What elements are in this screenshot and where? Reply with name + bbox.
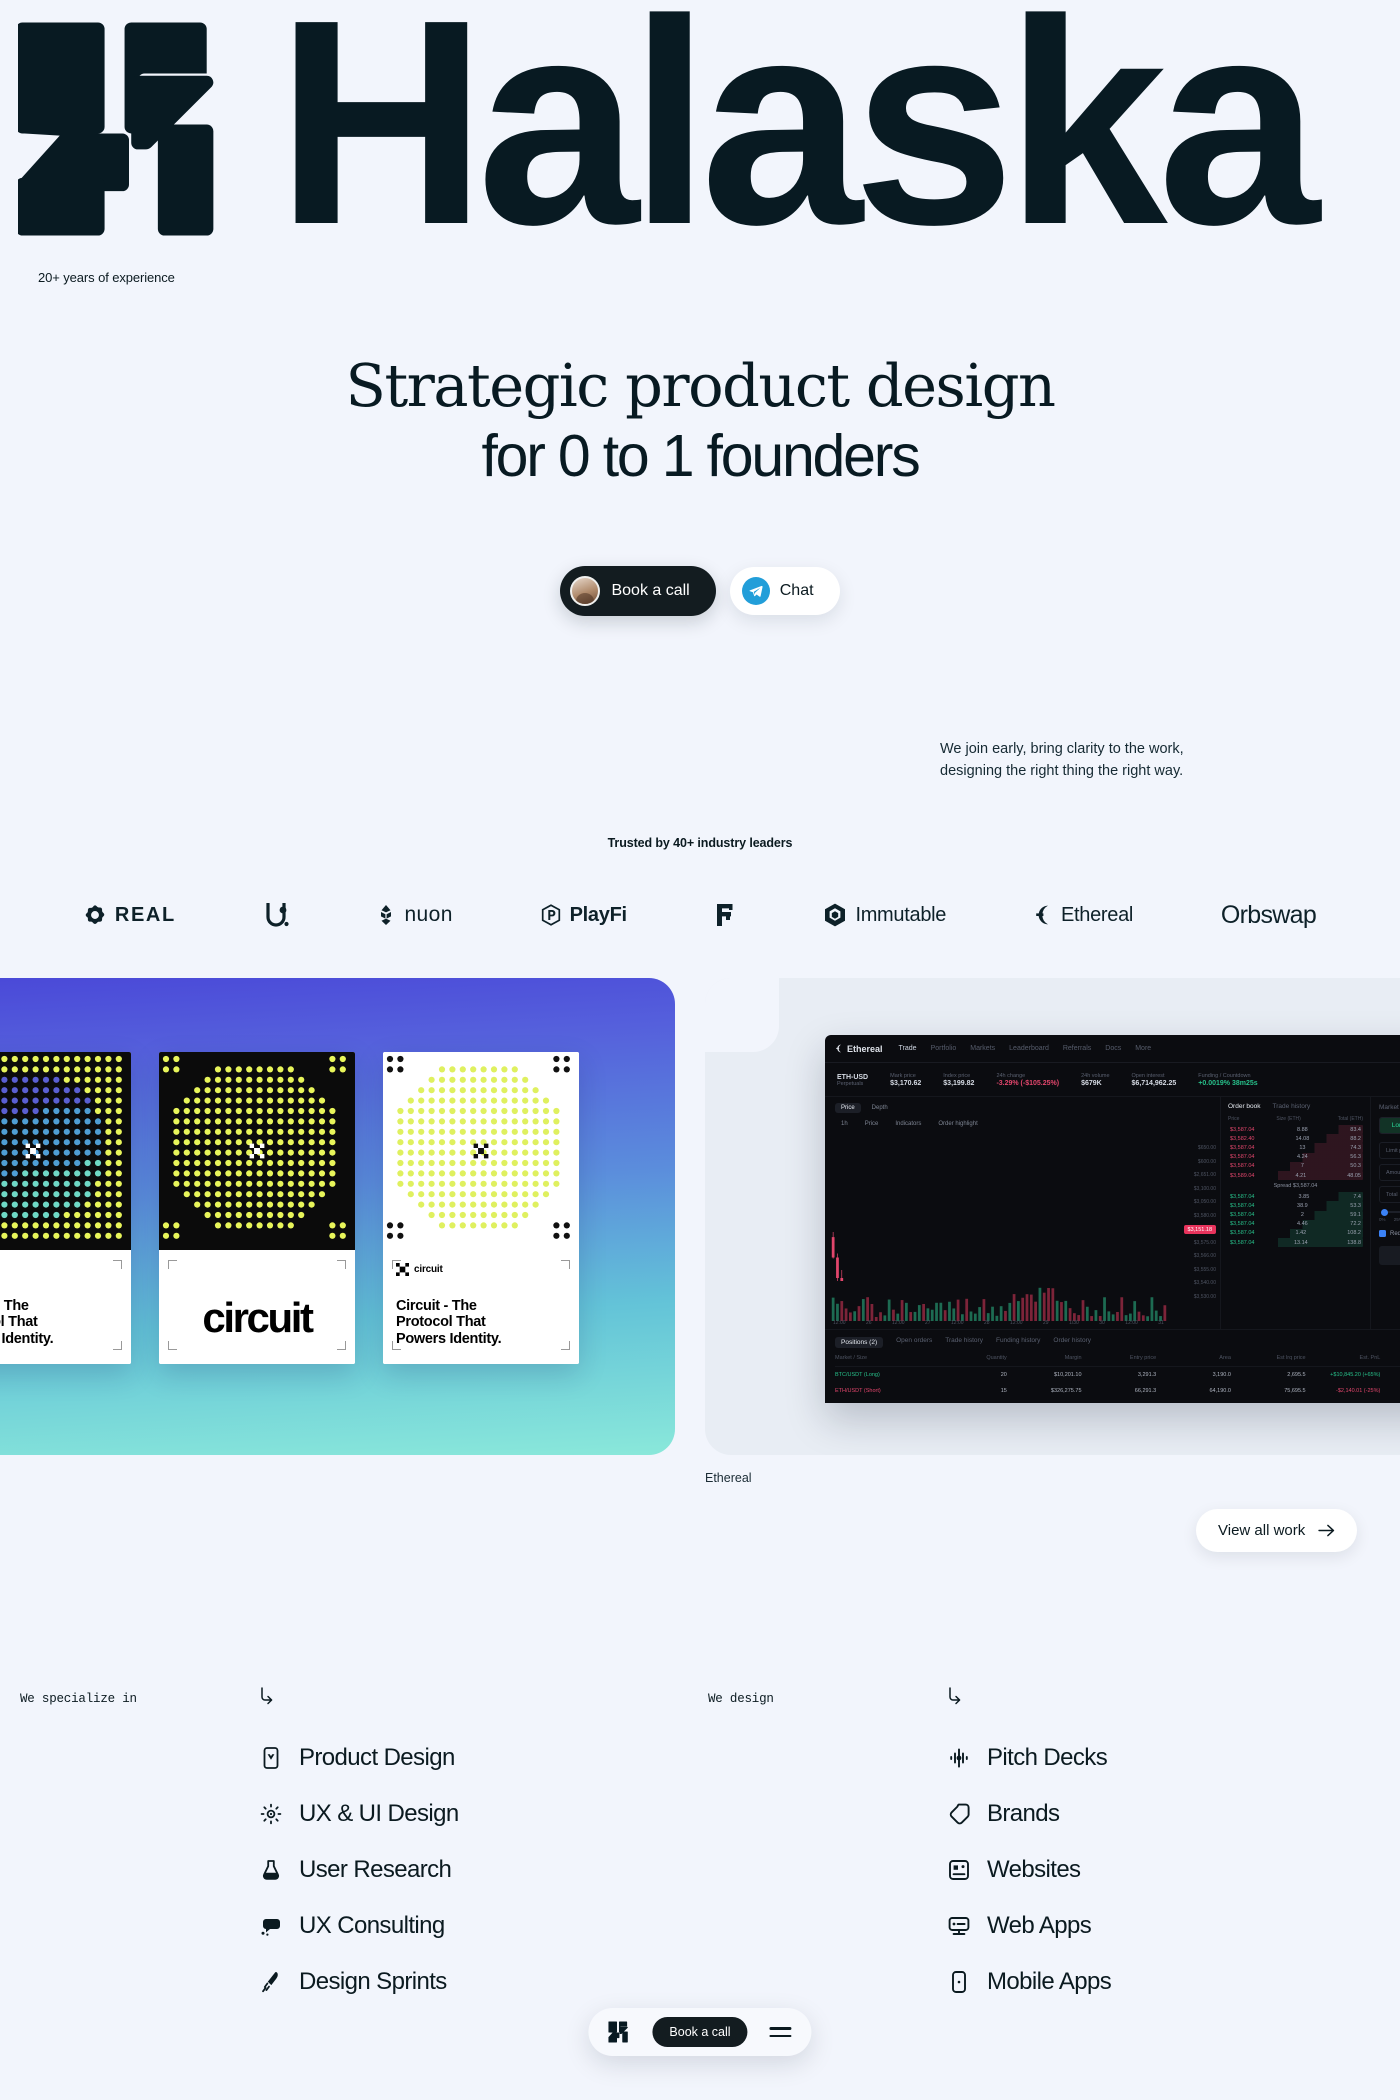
ob-size: 4.21 (1295, 1173, 1306, 1179)
order-book-row[interactable]: $3,587.0438.953.3 (1228, 1201, 1363, 1210)
price-tick: $3,050.00 (1194, 1199, 1216, 1205)
ob-size: 13.14 (1294, 1240, 1308, 1246)
col-area: Area (1156, 1355, 1231, 1361)
tab-trade-history-2[interactable]: Trade history (945, 1337, 983, 1348)
logo-real[interactable]: REAL (84, 904, 176, 927)
col-liq: Est lrq price (1231, 1355, 1306, 1361)
reduce-only-checkbox[interactable]: Reduce only (1379, 1230, 1400, 1237)
tab-trade-history[interactable]: Trade history (1273, 1103, 1311, 1110)
ob-total: 50.3 (1350, 1163, 1361, 1169)
service-label: UX Consulting (299, 1912, 445, 1940)
logo-ethereal-label: Ethereal (1061, 904, 1133, 927)
field-label: Total (1386, 1192, 1398, 1198)
nav-markets[interactable]: Markets (970, 1045, 995, 1052)
tool-interval[interactable]: 1h (835, 1119, 854, 1129)
service-item-websites[interactable]: Websites (946, 1842, 1111, 1898)
ob-price: $3,587.04 (1230, 1240, 1254, 1246)
chart-tabs: Price Depth (829, 1103, 1216, 1113)
order-book-bids: $3,587.043.857.4$3,587.0438.953.3$3,587.… (1228, 1192, 1363, 1247)
field-label: Limit price (1386, 1148, 1400, 1154)
pos-cell: -$2,140.01 (-25%) (1306, 1388, 1381, 1394)
ob-size: 2 (1301, 1212, 1304, 1218)
stat-value: +0.0019% 38m25s (1198, 1080, 1257, 1087)
ob-price: $3,587.04 (1230, 1163, 1254, 1169)
logo-immutable-label: Immutable (855, 904, 946, 927)
ob-total: 53.3 (1350, 1203, 1361, 1209)
stat-label: Mark price (890, 1073, 921, 1079)
dashboard-main: Price Depth 1h Price Indicators Order hi… (825, 1097, 1400, 1329)
table-row[interactable]: ETH/USDT (Short)15$326,275.7566,291.364,… (835, 1383, 1400, 1399)
ob-price: $3,587.04 (1230, 1230, 1254, 1236)
time-tick: 30 (1099, 1320, 1105, 1326)
nav-docs[interactable]: Docs (1105, 1045, 1121, 1052)
ob-size: 14.08 (1295, 1136, 1309, 1142)
poster-3-desc-l1: Circuit - The (396, 1298, 501, 1315)
pitch-decks-icon (946, 1746, 971, 1771)
pos-cell: 64,190.0 (1156, 1388, 1231, 1394)
order-book-row[interactable]: $3,587.044.2456.3 (1228, 1153, 1363, 1162)
client-logo-row: REAL nuon PlayFi (0, 880, 1400, 950)
web-apps-icon (946, 1914, 971, 1939)
time-tick: 27 (925, 1320, 931, 1326)
arrow-right-icon (1318, 1524, 1335, 1537)
work-card-caption: Ethereal (705, 1471, 752, 1485)
dashboard-nav: Trade Portfolio Markets Leaderboard Refe… (899, 1045, 1152, 1052)
logo-f[interactable] (715, 902, 737, 928)
service-item-user-research[interactable]: User Research (258, 1842, 459, 1898)
poster-3: circuit Circuit - The Protocol That Powe… (383, 1052, 579, 1364)
chart-tab-price[interactable]: Price (835, 1103, 861, 1113)
service-item-brands[interactable]: Brands (946, 1786, 1111, 1842)
nav-trade[interactable]: Trade (899, 1045, 917, 1052)
poster-3-desc-l2: Protocol That (396, 1314, 501, 1331)
ob-total: 108.2 (1347, 1230, 1361, 1236)
tool-indicators[interactable]: Indicators (889, 1119, 927, 1129)
service-item-web-apps[interactable]: Web Apps (946, 1898, 1111, 1954)
mobile-apps-icon (946, 1970, 971, 1995)
order-book-row[interactable]: $3,587.048.8883.4 (1228, 1125, 1363, 1134)
order-book-row[interactable]: $3,587.041374.3 (1228, 1143, 1363, 1152)
ethereal-dashboard: Ethereal Trade Portfolio Markets Leaderb… (825, 1035, 1400, 1403)
service-item-ux-ui-design[interactable]: UX & UI Design (258, 1786, 459, 1842)
dot-grid-gradient (0, 1052, 131, 1250)
stat-label: Open interest (1132, 1073, 1177, 1079)
ob-price: $3,587.04 (1230, 1221, 1254, 1227)
col-total: Total (ETH) (1338, 1116, 1363, 1122)
subcopy-line-1: We join early, bring clarity to the work… (940, 738, 1360, 760)
price-tick: $3,575.00 (1194, 1240, 1216, 1246)
logo-ethereal[interactable]: Ethereal (1034, 904, 1133, 927)
nav-referrals[interactable]: Referrals (1063, 1045, 1091, 1052)
order-book-row[interactable]: $3,587.04750.3 (1228, 1162, 1363, 1171)
u-logo-icon (264, 900, 290, 930)
chart-tab-depth[interactable]: Depth (866, 1103, 894, 1113)
col-price: Price (1228, 1116, 1239, 1122)
service-label: User Research (299, 1856, 451, 1884)
price-tick: $2,651.00 (1194, 1172, 1216, 1178)
pos-cell: $10,201.10 (1007, 1372, 1082, 1378)
work-card-circuit[interactable]: circuit Circuit - The Protocol That Powe… (0, 978, 675, 1455)
ob-total: 88.2 (1350, 1136, 1361, 1142)
f-logo-icon (715, 902, 737, 928)
pos-cell: 3,291.3 (1082, 1372, 1157, 1378)
ob-price: $3,587.04 (1230, 1145, 1254, 1151)
design-sprints-icon (258, 1970, 283, 1995)
avatar (570, 576, 600, 606)
stat-value: $3,170.62 (890, 1080, 921, 1087)
price-tick: $3,540.00 (1194, 1280, 1216, 1286)
card-notch (705, 978, 779, 1052)
poster-2-body: circuit (159, 1250, 355, 1364)
stat-value: $679K (1081, 1080, 1109, 1087)
poster-3-brand: circuit (414, 1264, 443, 1275)
time-tick: 28 (984, 1320, 990, 1326)
poster-3-desc: Circuit - The Protocol That Powers Ident… (396, 1298, 501, 1348)
price-tick: $3,580.00 (1194, 1213, 1216, 1219)
time-tick: 31 (1158, 1320, 1164, 1326)
candlestick-chart (831, 1153, 1167, 1281)
stat-24h-volume: 24h volume $679K (1081, 1073, 1109, 1087)
book-a-call-button[interactable]: Book a call (560, 566, 715, 616)
floating-bottom-nav: Book a call (588, 2008, 811, 2056)
service-label: Brands (987, 1800, 1059, 1828)
order-book-row[interactable]: $3,587.04259.1 (1228, 1211, 1363, 1220)
work-card-ethereal[interactable]: Ethereal Trade Portfolio Markets Leaderb… (705, 978, 1400, 1455)
positions-header-row: Market / Size Quantity Margin Entry pric… (835, 1355, 1400, 1367)
pos-cell: 2,695.5 (1231, 1372, 1306, 1378)
poster-2-art (159, 1052, 355, 1250)
current-price-tag: $3,151.18 (1184, 1225, 1216, 1234)
poster-2-wordmark: circuit (159, 1294, 355, 1342)
order-book-row[interactable]: $3,587.044.4672.2 (1228, 1220, 1363, 1229)
book-a-call-label: Book a call (611, 582, 689, 600)
ux-ui-design-icon (258, 1802, 283, 1827)
side-toggle: Long Short (1379, 1117, 1400, 1134)
poster-1-desc-l2: Protocol That (0, 1314, 53, 1331)
slider-tick: 0% (1379, 1217, 1386, 1222)
ob-total: 138.8 (1347, 1240, 1361, 1246)
time-tick: 29 (1043, 1320, 1049, 1326)
work-showcase: circuit Circuit - The Protocol That Powe… (0, 978, 1400, 1458)
headline-line-1: Strategic product design (0, 352, 1400, 420)
poster-1-desc: Circuit - The Protocol That Powers Ident… (0, 1298, 53, 1348)
pos-cell: $2,591.09 (1380, 1372, 1400, 1378)
service-item-design-sprints[interactable]: Design Sprints (258, 1954, 459, 2010)
dot-grid-yellow (159, 1052, 355, 1250)
telegram-icon (742, 577, 770, 605)
logo-nuon-label: nuon (404, 903, 452, 927)
ob-total: 7.4 (1353, 1194, 1361, 1200)
service-label: Pitch Decks (987, 1744, 1107, 1772)
real-logo-icon (84, 904, 106, 926)
trusted-label: Trusted by 40+ industry leaders (0, 836, 1400, 850)
chat-button[interactable]: Chat (730, 567, 840, 615)
logo-orbswap-label: Orbswap (1221, 901, 1316, 930)
pos-cell: $326,275.75 (1007, 1388, 1082, 1394)
product-design-icon (258, 1746, 283, 1771)
nav-leaderboard[interactable]: Leaderboard (1009, 1045, 1049, 1052)
price-chart-panel: Price Depth 1h Price Indicators Order hi… (825, 1097, 1221, 1329)
field-limit-price[interactable]: Limit price 0.00 (1379, 1142, 1400, 1159)
poster-3-body: circuit Circuit - The Protocol That Powe… (383, 1250, 579, 1364)
dashboard-brand: Ethereal (835, 1044, 883, 1054)
logo-u[interactable] (264, 900, 290, 930)
tool-price[interactable]: Price (859, 1119, 885, 1129)
positions-tabs: Positions (2) Open orders Trade history … (835, 1337, 1400, 1348)
logo-orbswap[interactable]: Orbswap (1221, 901, 1316, 930)
stat-open-interest: Open interest $6,714,962.25 (1132, 1073, 1177, 1087)
ob-total: 72.2 (1350, 1221, 1361, 1227)
time-tick: 12:00 (892, 1320, 905, 1326)
playfi-logo-icon (541, 904, 561, 926)
websites-icon (946, 1858, 971, 1883)
field-label: Amount (1386, 1170, 1400, 1176)
dashboard-topbar: Ethereal Trade Portfolio Markets Leaderb… (825, 1035, 1400, 1063)
chart-toolbar: 1h Price Indicators Order highlight (829, 1119, 1216, 1129)
pos-cell: 3,190.0 (1156, 1372, 1231, 1378)
pos-cell: 15 (932, 1388, 1007, 1394)
dashboard-brand-label: Ethereal (847, 1044, 883, 1054)
stat-value: $6,714,962.25 (1132, 1080, 1177, 1087)
market-type: Perpetuals (837, 1081, 868, 1087)
user-research-icon (258, 1858, 283, 1883)
tab-order-book[interactable]: Order book (1228, 1103, 1261, 1110)
nuon-logo-icon (377, 905, 395, 925)
ob-price: $3,587.04 (1230, 1203, 1254, 1209)
stat-index-price: Index price $3,199.82 (943, 1073, 974, 1087)
stat-funding: Funding / Countdown +0.0019% 38m25s (1198, 1073, 1257, 1087)
ob-size: 8.88 (1297, 1127, 1308, 1133)
ob-size: 3.85 (1299, 1194, 1310, 1200)
halaska-logo-mark (18, 18, 240, 240)
order-book-row[interactable]: $3,582.4014.0888.2 (1228, 1134, 1363, 1143)
order-book-spread: Spread $3,587.04 (1228, 1180, 1363, 1192)
poster-1-desc-l3: Powers Identity. (0, 1331, 53, 1348)
ob-total: 83.4 (1350, 1127, 1361, 1133)
pos-market: BTC/USDT (Long) (835, 1372, 932, 1378)
poster-3-desc-l3: Powers Identity. (396, 1331, 501, 1348)
services-list-specialize: Product Design UX & UI Design (258, 1730, 459, 2010)
poster-group: circuit Circuit - The Protocol That Powe… (0, 1052, 579, 1364)
pos-cell: $3,105.29 (1380, 1388, 1400, 1394)
order-book-row[interactable]: $3,587.0413.14138.8 (1228, 1238, 1363, 1247)
services-list-design: Pitch Decks Brands (946, 1730, 1111, 2010)
time-axis: 12:00 26 12:00 27 12:00 28 12:00 29 1/30… (833, 1320, 1164, 1326)
ux-consulting-icon (258, 1914, 283, 1939)
ethereal-logo-icon (1034, 904, 1052, 926)
landing-page: Halaska 20+ years of experience Strategi… (0, 0, 1400, 2100)
poster-1-desc-l1: Circuit - The (0, 1298, 53, 1315)
view-all-work-label: View all work (1218, 1522, 1305, 1539)
stat-24h-change: 24h change -3.29% (-$105.25%) (996, 1073, 1059, 1087)
size-slider[interactable] (1381, 1211, 1400, 1213)
positions-rows: BTC/USDT (Long)20$10,201.103,291.33,190.… (835, 1367, 1400, 1399)
hero-brand: Halaska 20+ years of experience (18, 18, 1378, 238)
chat-label: Chat (780, 582, 814, 600)
col-entry: Entry price (1082, 1355, 1157, 1361)
ob-price: $3,582.40 (1230, 1136, 1254, 1142)
arrow-down-right-icon (946, 1686, 964, 1706)
dot-grid-light (383, 1052, 579, 1250)
place-order-button[interactable]: Place order (1379, 1246, 1400, 1265)
col-size: Size (ETH) (1276, 1116, 1300, 1122)
stat-label: 24h volume (1081, 1073, 1109, 1079)
field-amount[interactable]: Amount 0.00 (1379, 1164, 1400, 1181)
table-row[interactable]: BTC/USDT (Long)20$10,201.103,291.33,190.… (835, 1367, 1400, 1383)
tab-open-orders[interactable]: Open orders (896, 1337, 932, 1348)
time-tick: 12:00 (1125, 1320, 1138, 1326)
order-book-row[interactable]: $3,587.043.857.4 (1228, 1192, 1363, 1201)
hamburger-menu-icon[interactable] (770, 2027, 792, 2036)
price-tick: $3,566.00 (1194, 1253, 1216, 1259)
order-type-tabs: Market Limit (1379, 1104, 1400, 1111)
services-label-specialize: We specialize in (20, 1692, 137, 1706)
nav-more[interactable]: More (1135, 1045, 1151, 1052)
experience-note: 20+ years of experience (38, 270, 175, 285)
poster-1-body: circuit Circuit - The Protocol That Powe… (0, 1250, 131, 1364)
ob-total: 74.3 (1350, 1145, 1361, 1151)
service-item-mobile-apps[interactable]: Mobile Apps (946, 1954, 1111, 2010)
stat-value: -3.29% (-$105.25%) (996, 1080, 1059, 1087)
brand-wordmark: Halaska (276, 0, 1310, 268)
service-label: Mobile Apps (987, 1968, 1111, 1996)
price-tick: $3,100.00 (1194, 1186, 1216, 1192)
positions-panel: Positions (2) Open orders Trade history … (825, 1329, 1400, 1403)
page-title: Strategic product design for 0 to 1 foun… (0, 352, 1400, 491)
col-quantity: Quantity (932, 1355, 1007, 1361)
checkbox-icon (1379, 1230, 1386, 1237)
col-pnl: Est. PnL (1306, 1355, 1381, 1361)
order-book-row[interactable]: $3,587.041.42108.2 (1228, 1229, 1363, 1238)
service-label: Design Sprints (299, 1968, 447, 1996)
price-axis: $650.00 $600.00 $2,651.00 $3,100.00 $3,0… (1194, 1145, 1216, 1300)
market-selector[interactable]: ETH-USD Perpetuals (837, 1073, 868, 1087)
field-total[interactable]: Total 0.00 (1379, 1186, 1400, 1203)
hero-cta-row: Book a call Chat (0, 566, 1400, 616)
poster-3-brandline: circuit (396, 1263, 567, 1276)
ob-total: 59.1 (1350, 1212, 1361, 1218)
ob-size: 4.46 (1297, 1221, 1308, 1227)
brands-icon (946, 1802, 971, 1827)
price-tick: $3,530.00 (1194, 1294, 1216, 1300)
reduce-only-label: Reduce only (1390, 1231, 1400, 1237)
services-label-design: We design (708, 1692, 774, 1706)
arrow-down-right-icon (258, 1686, 276, 1706)
pos-cell: 75,695.5 (1231, 1388, 1306, 1394)
poster-1-brandline: circuit (0, 1263, 119, 1274)
price-tick: $600.00 (1198, 1159, 1216, 1165)
tab-funding-history[interactable]: Funding history (996, 1337, 1040, 1348)
pos-cell: 20 (932, 1372, 1007, 1378)
headline-line-2: for 0 to 1 founders (0, 422, 1400, 492)
poster-2: circuit (159, 1052, 355, 1364)
poster-3-art (383, 1052, 579, 1250)
col-market: Market / Size (835, 1355, 932, 1361)
order-book-headers: Price Size (ETH) Total (ETH) (1228, 1116, 1363, 1122)
poster-1-art (0, 1052, 131, 1250)
time-tick: 1/30 (1069, 1320, 1079, 1326)
nav-portfolio[interactable]: Portfolio (931, 1045, 957, 1052)
ob-size: 13 (1299, 1145, 1305, 1151)
ob-price: $3,589.04 (1230, 1173, 1254, 1179)
service-item-ux-consulting[interactable]: UX Consulting (258, 1898, 459, 1954)
service-item-product-design[interactable]: Product Design (258, 1730, 459, 1786)
pos-market: ETH/USDT (Short) (835, 1388, 932, 1394)
ob-total: 56.3 (1350, 1154, 1361, 1160)
tab-positions[interactable]: Positions (2) (835, 1337, 883, 1348)
order-book-panel: Order book Trade history Price Size (ETH… (1221, 1097, 1371, 1329)
ob-size: 7 (1301, 1163, 1304, 1169)
services-section: We specialize in Product Design (0, 1686, 1400, 2026)
stat-label: 24h change (996, 1073, 1059, 1079)
ethereal-logo-icon (835, 1044, 843, 1053)
logo-playfi[interactable]: PlayFi (541, 904, 627, 927)
subcopy-line-2: designing the right thing the right way. (940, 760, 1360, 782)
logo-real-label: REAL (115, 904, 176, 927)
slider-tick: 25% (1394, 1217, 1400, 1222)
volume-histogram (831, 1287, 1167, 1321)
stat-label: Index price (943, 1073, 974, 1079)
logo-playfi-label: PlayFi (570, 904, 627, 927)
market-symbol: ETH-USD (837, 1074, 868, 1081)
ob-size: 1.42 (1295, 1230, 1306, 1236)
service-item-pitch-decks[interactable]: Pitch Decks (946, 1730, 1111, 1786)
price-tick: $650.00 (1198, 1145, 1216, 1151)
stat-value: $3,199.82 (943, 1080, 974, 1087)
pos-cell: 66,291.3 (1082, 1388, 1157, 1394)
bottom-book-a-call-button[interactable]: Book a call (652, 2017, 747, 2047)
logo-immutable[interactable]: Immutable (824, 903, 946, 927)
pos-cell: +$10,845.20 (+65%) (1306, 1372, 1381, 1378)
dashboard-market-stats: ETH-USD Perpetuals Mark price $3,170.62 … (825, 1063, 1400, 1097)
side-long-button[interactable]: Long (1380, 1118, 1400, 1133)
tab-order-history[interactable]: Order history (1053, 1337, 1091, 1348)
halaska-logo-mark[interactable] (608, 2021, 630, 2043)
ob-size: 4.24 (1297, 1154, 1308, 1160)
price-tick: $3,555.00 (1194, 1267, 1216, 1273)
service-label: Product Design (299, 1744, 455, 1772)
time-tick: 12:00 (951, 1320, 964, 1326)
service-label: Web Apps (987, 1912, 1091, 1940)
logo-nuon[interactable]: nuon (377, 903, 452, 927)
col-margin: Margin (1007, 1355, 1082, 1361)
immutable-logo-icon (824, 903, 846, 927)
service-label: Websites (987, 1856, 1080, 1884)
tool-order-highlight[interactable]: Order highlight (932, 1119, 983, 1129)
tab-market[interactable]: Market (1379, 1104, 1399, 1111)
time-tick: 12:00 (1010, 1320, 1023, 1326)
ob-total: 48.05 (1347, 1173, 1361, 1179)
time-tick: 26 (866, 1320, 872, 1326)
order-book-asks: $3,587.048.8883.4$3,582.4014.0888.2$3,58… (1228, 1125, 1363, 1180)
ob-size: 38.9 (1297, 1203, 1308, 1209)
hero-subcopy: We join early, bring clarity to the work… (940, 738, 1360, 783)
ob-price: $3,587.04 (1230, 1212, 1254, 1218)
time-tick: 12:00 (833, 1320, 846, 1326)
stat-label: Funding / Countdown (1198, 1073, 1257, 1079)
ob-price: $3,587.04 (1230, 1127, 1254, 1133)
service-label: UX & UI Design (299, 1800, 459, 1828)
slider-ticks: 0% 25% 50% 75% 100% (1379, 1217, 1400, 1222)
ob-price: $3,587.04 (1230, 1154, 1254, 1160)
ob-price: $3,587.04 (1230, 1194, 1254, 1200)
poster-1: circuit Circuit - The Protocol That Powe… (0, 1052, 131, 1364)
order-entry-panel: Market Limit Long Short Limit price 0.00 (1371, 1097, 1400, 1329)
col-funding: Funding (1380, 1355, 1400, 1361)
order-book-row[interactable]: $3,589.044.2148.05 (1228, 1171, 1363, 1180)
order-book-tabs: Order book Trade history (1228, 1103, 1363, 1110)
view-all-work-button[interactable]: View all work (1196, 1509, 1357, 1552)
